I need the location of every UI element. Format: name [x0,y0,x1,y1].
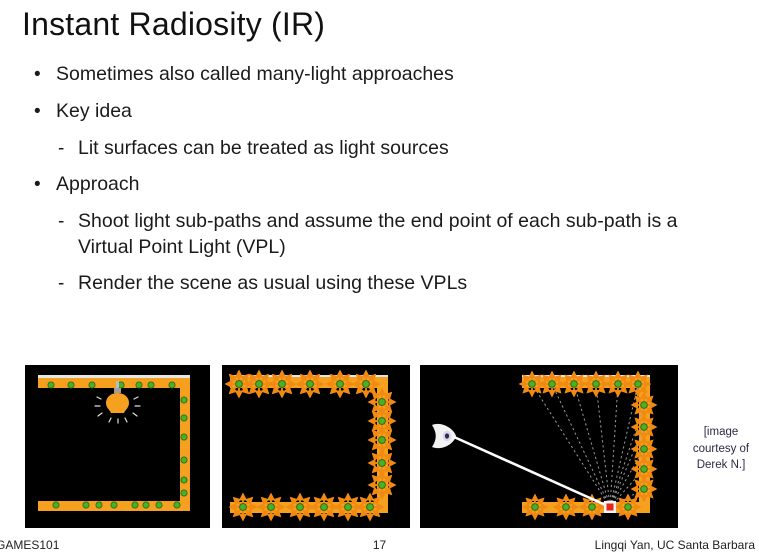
diagram-panel-vpl-emission [222,365,410,528]
footer-author-label: Lingqi Yan, UC Santa Barbara [595,538,755,552]
list-item: - Lit surfaces can be treated as light s… [34,136,734,162]
shading-point-marker [604,501,616,513]
bullet-text: Approach [56,172,139,198]
list-item: • Sometimes also called many-light appro… [34,62,734,88]
bullet-list: • Sometimes also called many-light appro… [34,62,734,306]
bullet-marker: • [34,99,56,124]
list-item: • Approach [34,172,734,198]
bullet-text: Lit surfaces can be treated as light sou… [78,136,449,162]
bullet-text: Key idea [56,99,132,125]
list-item: - Render the scene as usual using these … [34,271,734,297]
bullet-text: Shoot light sub-paths and assume the end… [78,209,734,261]
image-credit: [image courtesy of Derek N.] [686,424,756,474]
bullet-text: Render the scene as usual using these VP… [78,271,467,297]
bullet-text: Sometimes also called many-light approac… [56,62,454,88]
bullet-marker: • [34,172,56,197]
bullet-marker: • [34,62,56,87]
list-item: - Shoot light sub-paths and assume the e… [34,209,734,261]
image-credit-line-3: Derek N.] [686,457,756,474]
list-item: • Key idea [34,99,734,125]
image-credit-line-2: courtesy of [686,441,756,458]
panel-3-svg [420,365,678,528]
slide-footer: GAMES101 17 Lingqi Yan, UC Santa Barbara [0,536,759,558]
page-title: Instant Radiosity (IR) [22,6,325,43]
figure-strip [0,365,759,528]
diagram-panel-light-source [25,365,210,528]
diagram-panel-render-with-vpls [420,365,678,528]
panel-1-svg [25,365,210,528]
bullet-marker: - [58,271,78,296]
panel-2-svg [222,365,410,528]
bullet-marker: - [58,136,78,161]
bullet-marker: - [58,209,78,234]
image-credit-line-1: [image [686,424,756,441]
